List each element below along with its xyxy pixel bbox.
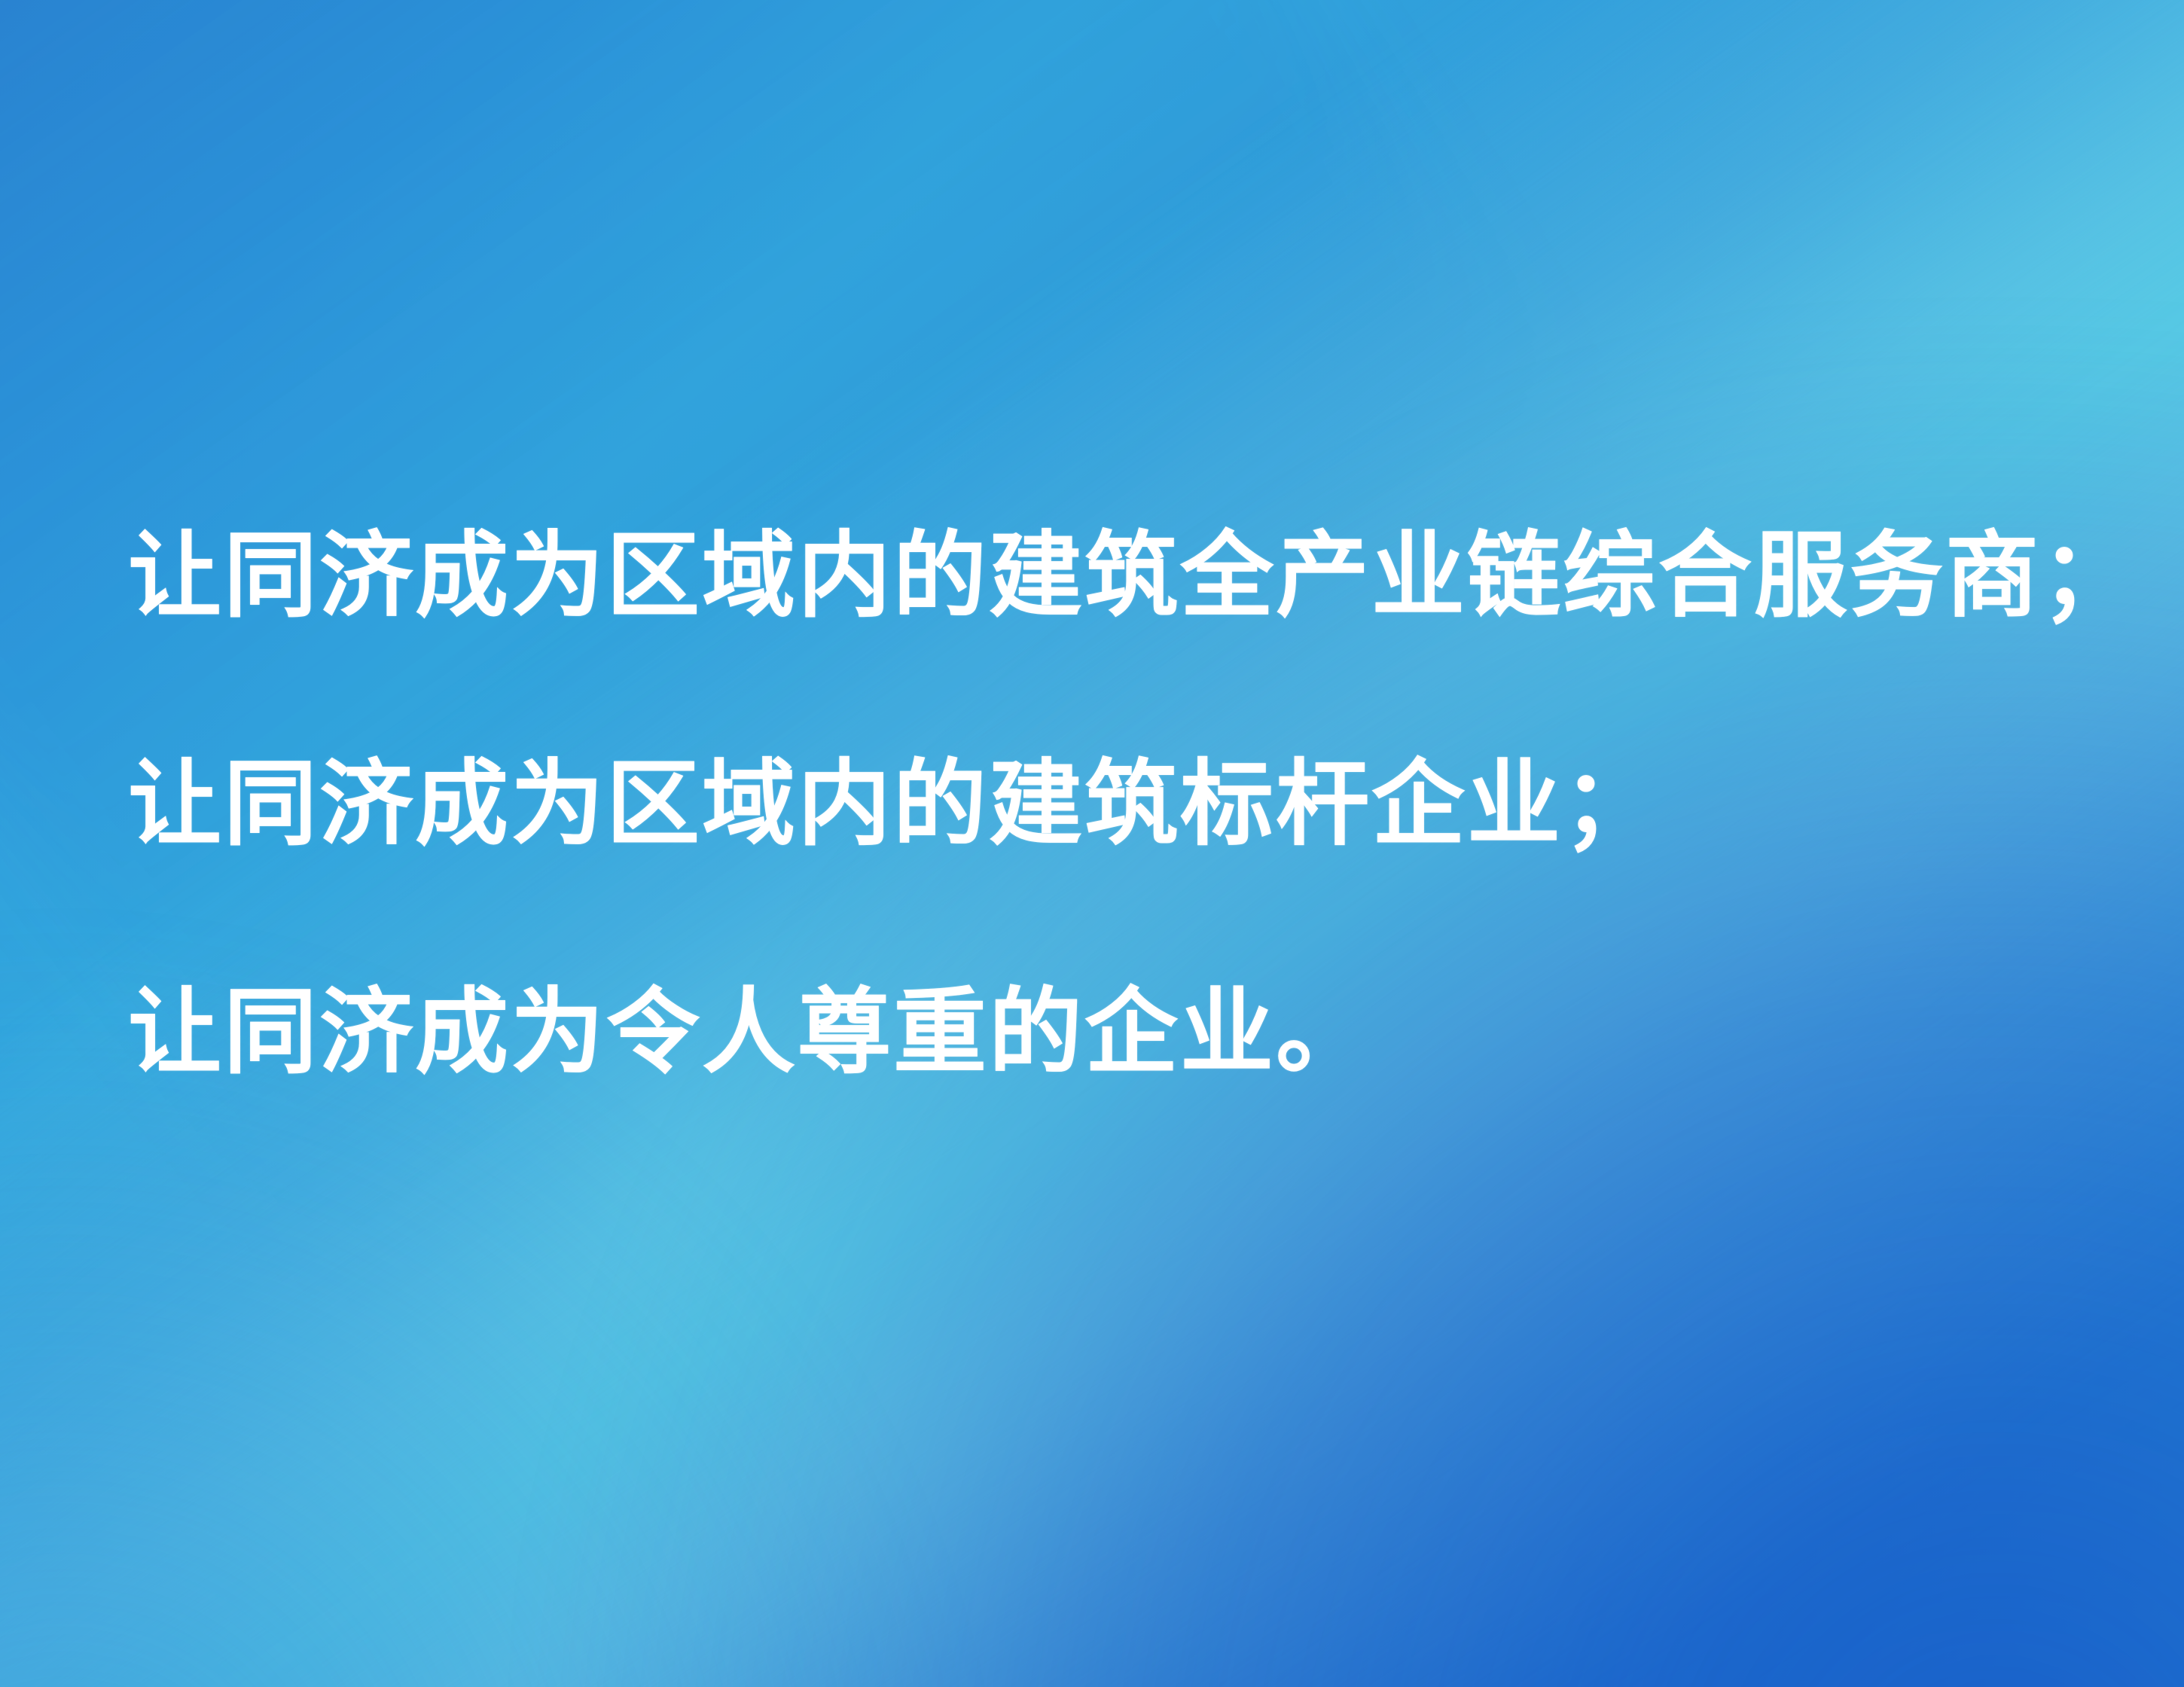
- slogan-text-block: 让同济成为区域内的建筑全产业链综合服务商； 让同济成为区域内的建筑标杆企业； 让…: [128, 462, 2086, 1147]
- presentation-slide: 让同济成为区域内的建筑全产业链综合服务商； 让同济成为区域内的建筑标杆企业； 让…: [0, 0, 2184, 1687]
- slogan-line-3: 让同济成为令人尊重的企业。: [128, 919, 2086, 1147]
- slogan-line-2: 让同济成为区域内的建筑标杆企业；: [128, 691, 2086, 919]
- slogan-line-1: 让同济成为区域内的建筑全产业链综合服务商；: [128, 462, 2086, 691]
